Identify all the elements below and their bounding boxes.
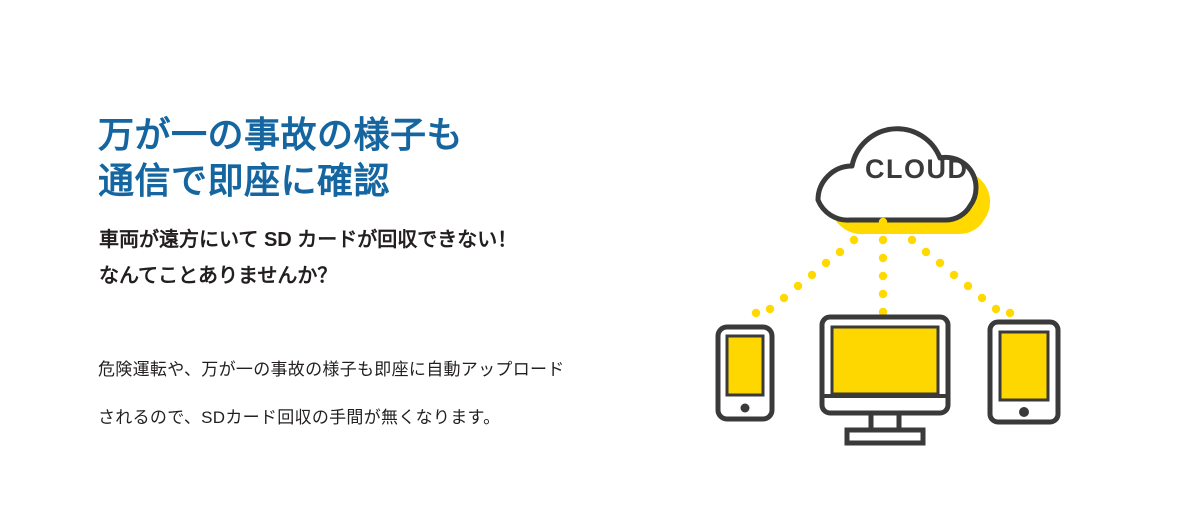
subheadline: 車両が遠方にいて SD カードが回収できない！ なんてことありませんか？ [98, 222, 698, 294]
subheadline-text-1: 車両が遠方にいて SD カードが回収できない！ [99, 229, 517, 251]
body-line-2: されるので、SDカード回収の手間が無くなります。 [98, 394, 698, 442]
page-title: 万が一の事故の様子も 通信で即座に確認 [98, 112, 698, 204]
subheadline-text-2: なんてことありませんか？ [99, 265, 337, 287]
headline-line-2: 通信で即座に確認 [98, 158, 698, 204]
promo-banner: 万が一の事故の様子も 通信で即座に確認 車両が遠方にいて SD カードが回収でき… [0, 0, 1200, 530]
desktop-monitor-icon [822, 317, 948, 443]
highlight-band-1: 車両が遠方にいて SD カードが回収できない！ [98, 222, 518, 258]
smartphone-icon [718, 327, 772, 419]
tablet-icon [990, 322, 1058, 422]
highlight-band-2: なんてことありませんか？ [98, 258, 338, 294]
cloud-label: CLOUD [865, 154, 969, 184]
body-text: 危険運転や、万が一の事故の様子も即座に自動アップロード されるので、SDカード回… [98, 346, 698, 442]
text-panel: 万が一の事故の様子も 通信で即座に確認 車両が遠方にいて SD カードが回収でき… [98, 112, 698, 442]
body-line-1: 危険運転や、万が一の事故の様子も即座に自動アップロード [98, 346, 698, 394]
subheadline-line-2: なんてことありませんか？ [98, 258, 698, 294]
headline-line-1: 万が一の事故の様子も [98, 112, 698, 158]
subheadline-line-1: 車両が遠方にいて SD カードが回収できない！ [98, 222, 698, 258]
cloud-icon: CLOUD [818, 129, 976, 220]
cloud-devices-illustration: CLOUD [690, 70, 1090, 450]
